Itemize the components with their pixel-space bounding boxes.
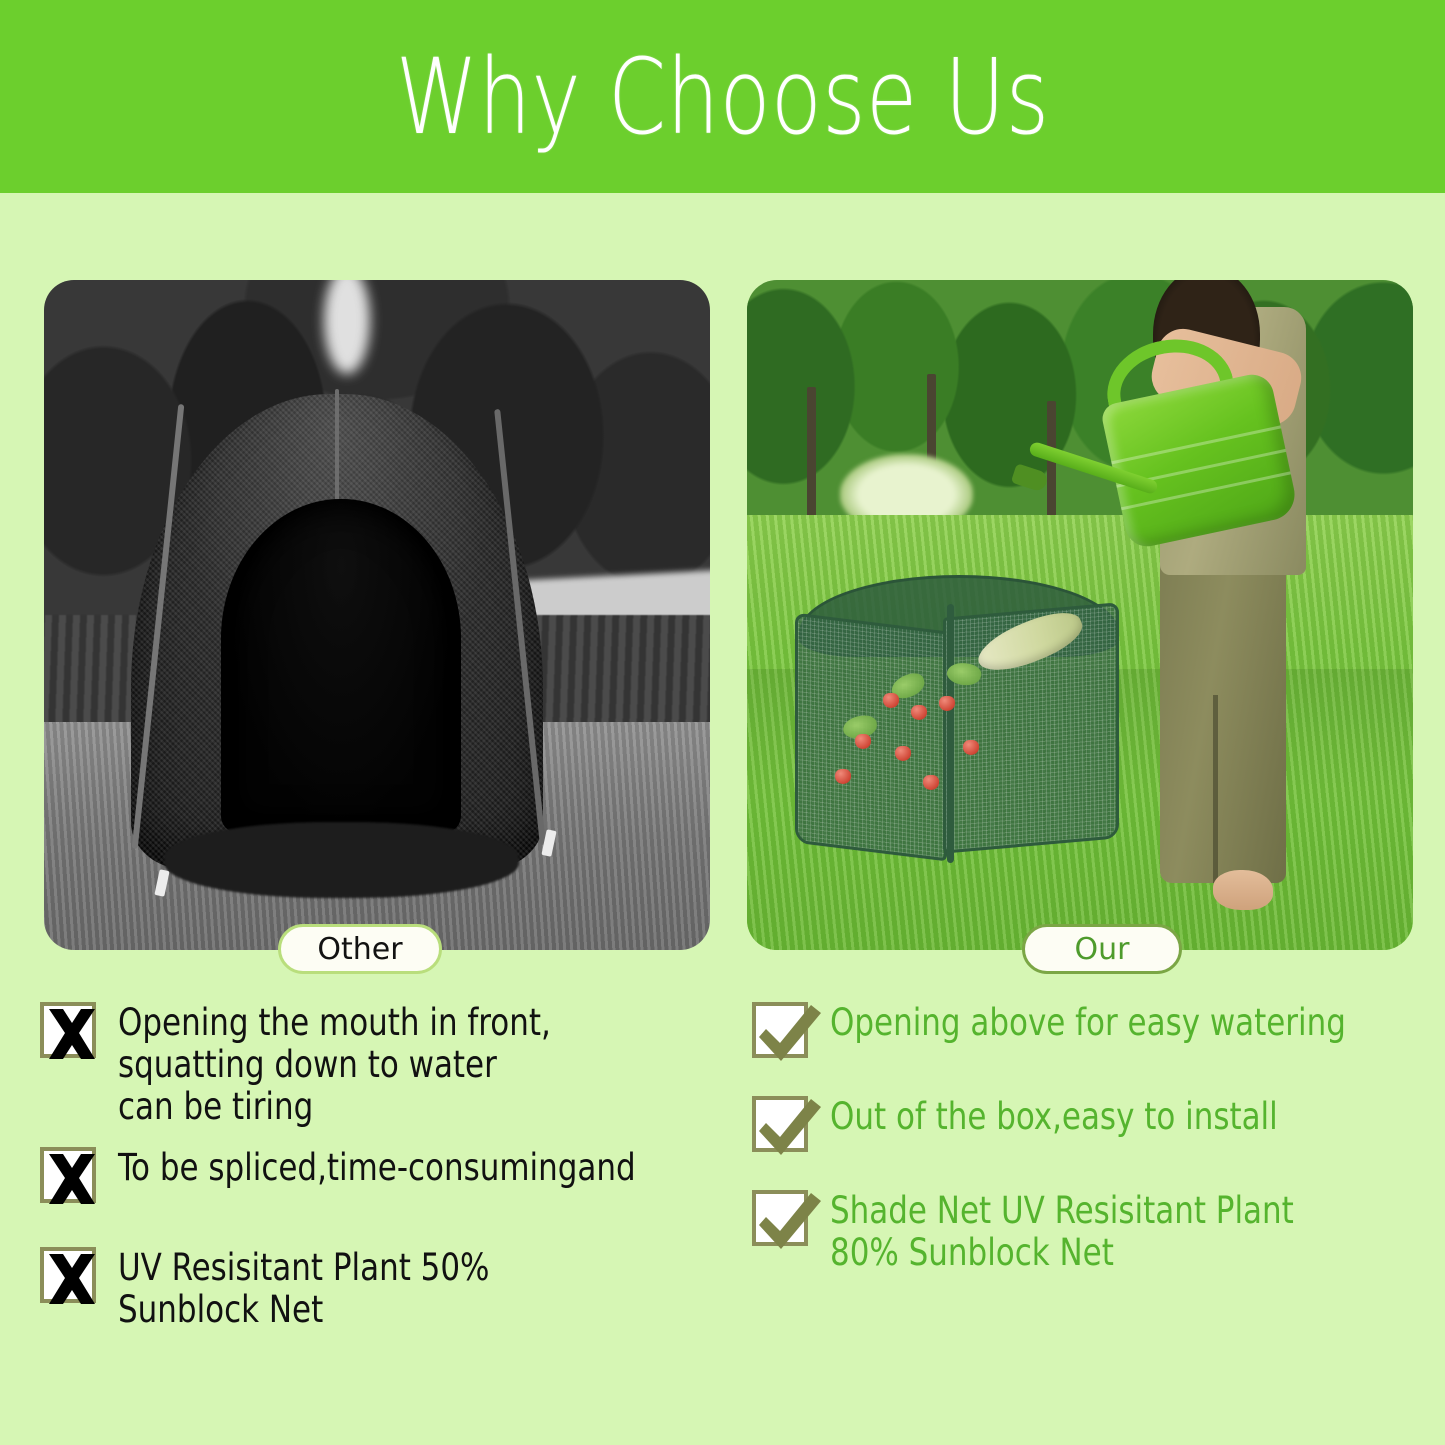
strawberry [883, 693, 899, 708]
x-mark-icon [40, 1247, 96, 1303]
other-photo-scene [44, 280, 710, 950]
our-photo-scene [747, 280, 1413, 950]
cage-zipper [947, 604, 954, 864]
pop-up-plant-cage [787, 575, 1187, 870]
strawberry [895, 746, 911, 761]
tent-front-opening [221, 499, 460, 832]
strawberry [923, 775, 939, 790]
other-feature-list: Opening the mouth in front, squatting do… [40, 1002, 740, 1353]
list-item: Opening the mouth in front, squatting do… [40, 1002, 740, 1129]
list-item-label: Shade Net UV Resisitant Plant 80% Sunblo… [830, 1190, 1294, 1274]
list-item-label: UV Resisitant Plant 50% Sunblock Net [118, 1247, 489, 1331]
list-item-label: Opening above for easy watering [830, 1002, 1346, 1044]
our-label-pill: Our [1022, 924, 1182, 974]
list-item: Shade Net UV Resisitant Plant 80% Sunblo… [752, 1190, 1442, 1274]
person-foot [1213, 870, 1273, 910]
infographic-page: Why Choose Us [0, 0, 1445, 1445]
tree-trunk [807, 387, 816, 534]
person-leg-seam [1213, 695, 1218, 883]
strawberry [855, 734, 871, 749]
x-mark-icon [40, 1147, 96, 1203]
list-item: To be spliced,time-consumingand [40, 1147, 740, 1203]
list-item-label: To be spliced,time-consumingand [118, 1147, 636, 1189]
strawberry [939, 696, 955, 711]
x-mark-icon [40, 1002, 96, 1058]
other-label-pill: Other [278, 924, 442, 974]
cage-left-panel [795, 613, 947, 862]
header-banner: Why Choose Us [0, 0, 1445, 193]
other-product-photo [44, 280, 710, 950]
our-feature-list: Opening above for easy watering Out of t… [752, 1002, 1442, 1312]
strawberry [911, 705, 927, 720]
check-mark-icon [752, 1002, 808, 1058]
list-item: Out of the box,easy to install [752, 1096, 1442, 1152]
list-item: Opening above for easy watering [752, 1002, 1442, 1058]
check-mark-icon [752, 1096, 808, 1152]
tent-ground-skirt [164, 822, 519, 898]
list-item-label: Opening the mouth in front, squatting do… [118, 1002, 551, 1129]
other-label-text: Other [317, 932, 402, 967]
our-product-photo [747, 280, 1413, 950]
page-title: Why Choose Us [396, 45, 1050, 149]
strawberry [963, 740, 979, 755]
list-item-label: Out of the box,easy to install [830, 1096, 1278, 1138]
check-mark-icon [752, 1190, 808, 1246]
list-item: UV Resisitant Plant 50% Sunblock Net [40, 1247, 740, 1331]
our-label-text: Our [1075, 932, 1130, 967]
